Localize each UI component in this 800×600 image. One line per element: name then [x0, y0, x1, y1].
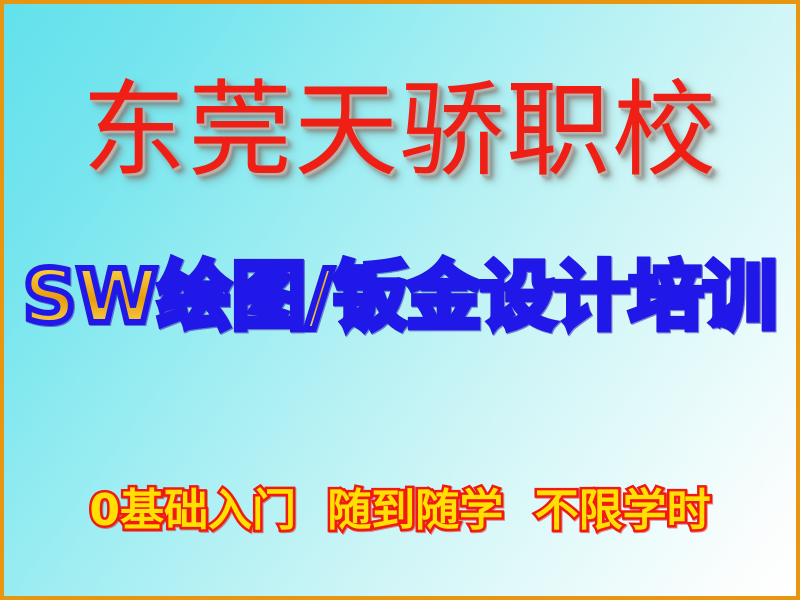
school-name-title: 东莞天骄职校	[0, 74, 800, 186]
poster-content: 东莞天骄职校 SW绘图/钣金设计培训 0基础入门 随到随学 不限学时	[0, 0, 800, 600]
tagline-segment-enroll-anytime: 随到随学	[327, 485, 503, 536]
enrollment-tagline: 0基础入门 随到随学 不限学时	[0, 487, 800, 535]
course-subtitle: SW绘图/钣金设计培训	[0, 258, 800, 336]
tagline-separator-2	[503, 485, 534, 536]
tagline-segment-zero-basis: 0基础入门	[89, 485, 296, 536]
course-subtitle-segment-2: 钣金	[333, 254, 481, 340]
tagline-separator-1	[296, 485, 327, 536]
tagline-segment-unlimited-hours: 不限学时	[535, 485, 711, 536]
promotional-poster: 东莞天骄职校 SW绘图/钣金设计培训 0基础入门 随到随学 不限学时	[0, 0, 800, 600]
course-subtitle-segment-3: 设计培训	[481, 254, 777, 340]
course-subtitle-segment-1: SW绘图/	[23, 254, 333, 340]
